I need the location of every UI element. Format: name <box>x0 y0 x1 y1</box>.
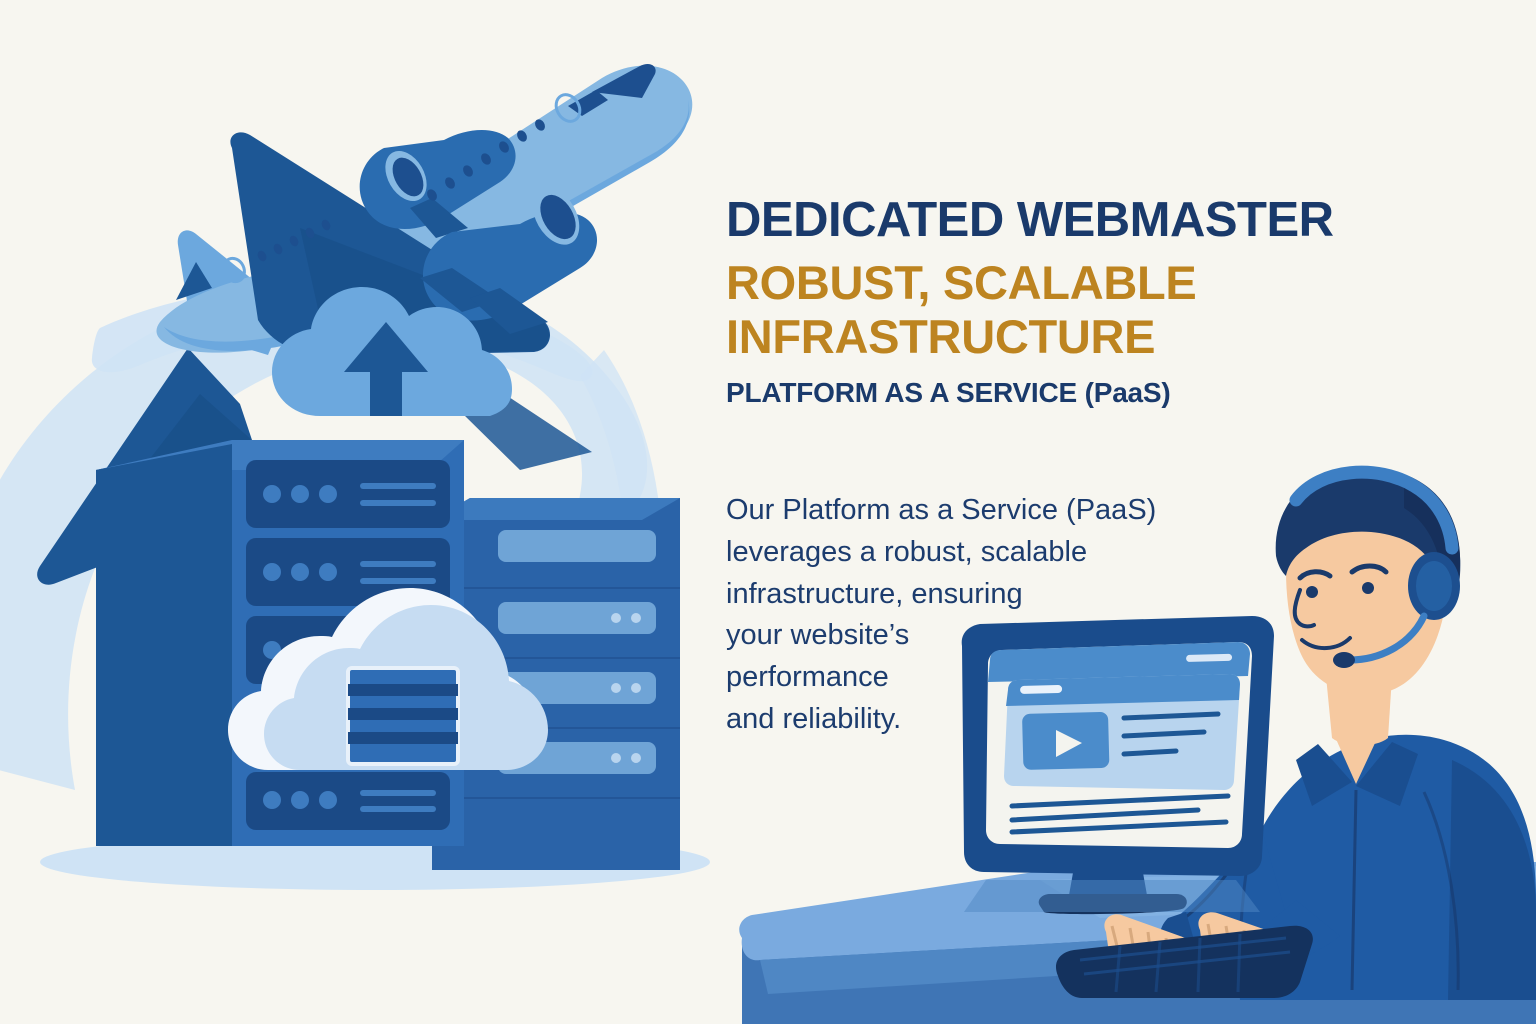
body-line: performance <box>726 657 1256 699</box>
subtitle-line-1: ROBUST, SCALABLE <box>726 259 1486 307</box>
subtitle-line-2: INFRASTRUCTURE <box>726 313 1486 361</box>
poster-canvas: DEDICATED WEBMASTER ROBUST, SCALABLE INF… <box>0 0 1536 1024</box>
body-line: and reliability. <box>726 699 1256 741</box>
body-line: leverages a robust, scalable <box>726 532 1256 574</box>
body-paragraph: Our Platform as a Service (PaaS) leverag… <box>726 490 1256 741</box>
headline-block: DEDICATED WEBMASTER ROBUST, SCALABLE INF… <box>726 196 1486 407</box>
body-line: infrastructure, ensuring <box>726 574 1256 616</box>
page-title: DEDICATED WEBMASTER <box>726 196 1486 245</box>
body-line: your website’s <box>726 615 1256 657</box>
kicker-text: PLATFORM AS A SERVICE (PaaS) <box>726 379 1486 407</box>
body-line: Our Platform as a Service (PaaS) <box>726 490 1256 532</box>
